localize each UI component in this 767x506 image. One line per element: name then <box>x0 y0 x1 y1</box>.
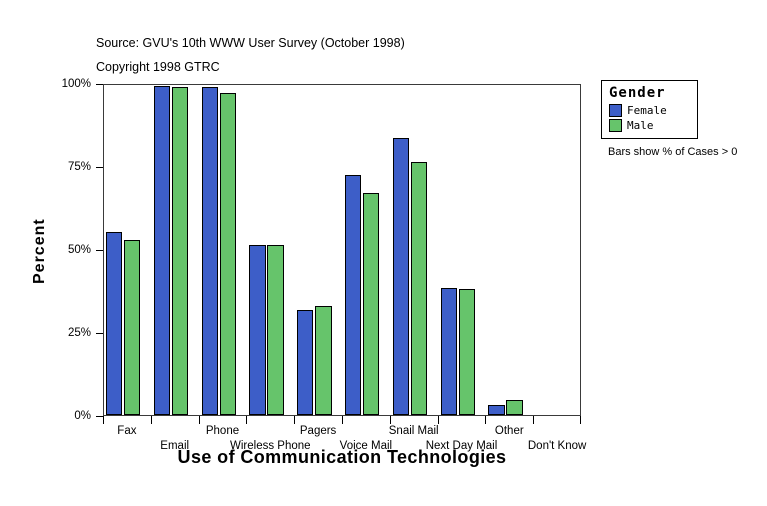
y-axis-tick <box>96 250 103 251</box>
bar-group <box>343 85 391 415</box>
x-axis-tick <box>151 416 152 424</box>
bar-male <box>459 289 475 415</box>
x-axis-tick <box>103 416 104 424</box>
plot-area <box>103 84 581 416</box>
source-line-1: Source: GVU's 10th WWW User Survey (Octo… <box>96 31 405 55</box>
x-axis-tick-label: Pagers <box>300 425 336 437</box>
y-axis: 0%25%50%75%100% <box>0 84 103 416</box>
bar-male <box>267 245 283 415</box>
y-axis-tick <box>96 333 103 334</box>
legend-item-female: Female <box>609 104 689 117</box>
bar-male <box>315 306 331 415</box>
bar-male <box>363 193 379 415</box>
bar-female <box>393 138 409 415</box>
x-axis-tick <box>390 416 391 424</box>
source-line-2: Copyright 1998 GTRC <box>96 55 405 79</box>
bar-female <box>106 232 122 415</box>
y-axis-tick <box>96 84 103 85</box>
x-axis-tick <box>246 416 247 424</box>
bar-group <box>486 85 534 415</box>
y-axis-tick-label: 100% <box>62 78 91 90</box>
bar-group <box>439 85 487 415</box>
legend-swatch-male <box>609 119 622 132</box>
bar-female <box>202 87 218 415</box>
bar-male <box>506 400 522 415</box>
legend-note: Bars show % of Cases > 0 <box>608 146 737 158</box>
bar-group <box>247 85 295 415</box>
x-axis-tick <box>580 416 581 424</box>
source-block: Source: GVU's 10th WWW User Survey (Octo… <box>96 31 405 79</box>
bar-male <box>172 87 188 415</box>
legend-label-male: Male <box>627 119 654 132</box>
legend-title: Gender <box>609 85 689 101</box>
x-axis-title: Use of Communication Technologies <box>103 447 581 468</box>
bar-female <box>488 405 504 415</box>
legend-swatch-female <box>609 104 622 117</box>
x-axis-tick <box>533 416 534 424</box>
bar-group <box>152 85 200 415</box>
x-axis-tick <box>485 416 486 424</box>
bar-group <box>534 85 582 415</box>
x-axis-tick-label: Phone <box>206 425 239 437</box>
bar-female <box>345 175 361 415</box>
x-axis-tick-label: Snail Mail <box>389 425 439 437</box>
legend-item-male: Male <box>609 119 689 132</box>
bar-male <box>124 240 140 415</box>
y-axis-tick <box>96 416 103 417</box>
x-axis-tick <box>294 416 295 424</box>
bar-group <box>200 85 248 415</box>
bar-female <box>297 310 313 415</box>
y-axis-tick-label: 50% <box>68 244 91 256</box>
bar-group <box>104 85 152 415</box>
x-axis-tick-label: Other <box>495 425 524 437</box>
x-axis-tick <box>438 416 439 424</box>
bar-female <box>441 288 457 415</box>
y-axis-tick <box>96 167 103 168</box>
x-axis-tick <box>342 416 343 424</box>
bar-male <box>220 93 236 415</box>
bar-female <box>154 86 170 415</box>
legend: Gender Female Male <box>601 80 698 139</box>
bar-group <box>391 85 439 415</box>
bars-layer <box>104 85 580 415</box>
legend-label-female: Female <box>627 104 667 117</box>
y-axis-tick-label: 0% <box>74 410 91 422</box>
y-axis-tick-label: 25% <box>68 327 91 339</box>
bar-group <box>295 85 343 415</box>
y-axis-tick-label: 75% <box>68 161 91 173</box>
x-axis-tick-label: Fax <box>117 425 136 437</box>
bar-male <box>411 162 427 415</box>
bar-female <box>249 245 265 415</box>
x-axis-tick <box>199 416 200 424</box>
